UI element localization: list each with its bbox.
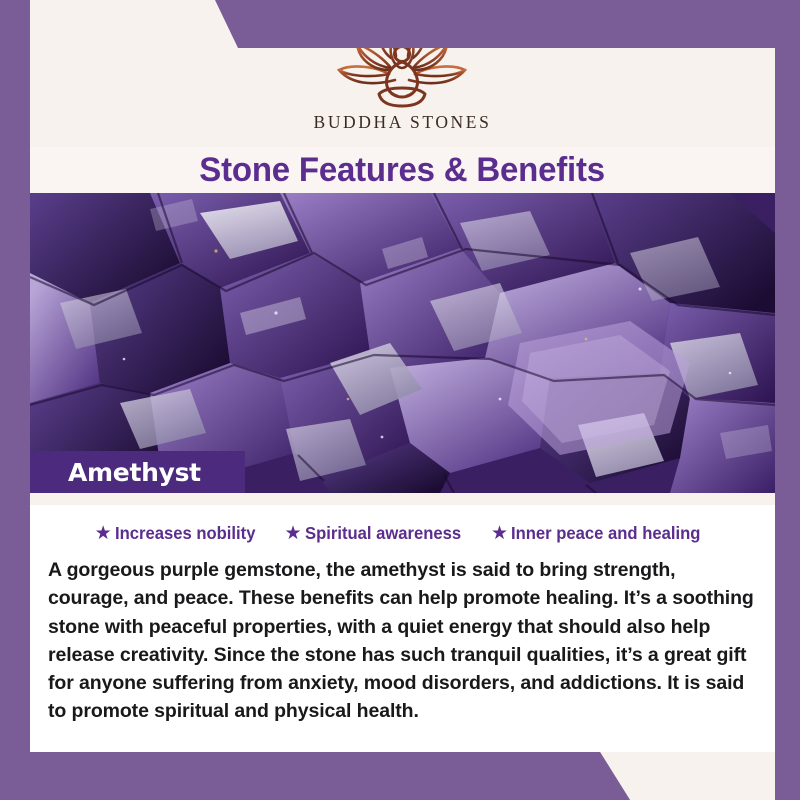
benefit-item-2: ★ Spiritual awareness bbox=[285, 523, 469, 544]
star-icon: ★ bbox=[95, 524, 112, 543]
separator-strip bbox=[30, 493, 775, 505]
header: BUDDHA STONES Stone Features & Benefits bbox=[30, 48, 775, 193]
amethyst-crystal-cluster-photo bbox=[30, 193, 775, 493]
stone-description: A gorgeous purple gemstone, the amethyst… bbox=[48, 556, 757, 726]
benefits-list: ★ Increases nobility ★ Spiritual awarene… bbox=[40, 519, 765, 554]
star-icon: ★ bbox=[285, 524, 302, 543]
star-icon: ★ bbox=[491, 524, 508, 543]
content-area: ★ Increases nobility ★ Spiritual awarene… bbox=[30, 505, 775, 726]
title-bar: Stone Features & Benefits bbox=[30, 147, 775, 193]
page-title: Stone Features & Benefits bbox=[200, 151, 606, 190]
benefit-item-3: ★ Inner peace and healing bbox=[491, 523, 710, 544]
benefit-item-1: ★ Increases nobility bbox=[95, 523, 263, 544]
hero-image: Amethyst bbox=[30, 193, 775, 493]
benefit-label-2: Spiritual awareness bbox=[305, 523, 461, 544]
frame-border-bottom bbox=[0, 752, 630, 800]
stone-benefits-infographic: BUDDHA STONES Stone Features & Benefits bbox=[0, 0, 800, 800]
benefit-label-1: Increases nobility bbox=[115, 523, 255, 544]
card-canvas: BUDDHA STONES Stone Features & Benefits bbox=[30, 48, 775, 752]
stone-name-label: Amethyst bbox=[68, 458, 201, 487]
brand-logo: BUDDHA STONES bbox=[314, 48, 492, 133]
lotus-meditation-figure-icon bbox=[317, 48, 487, 110]
stone-name-banner: Amethyst bbox=[30, 451, 245, 493]
brand-name: BUDDHA STONES bbox=[314, 112, 492, 133]
benefit-label-3: Inner peace and healing bbox=[511, 523, 700, 544]
